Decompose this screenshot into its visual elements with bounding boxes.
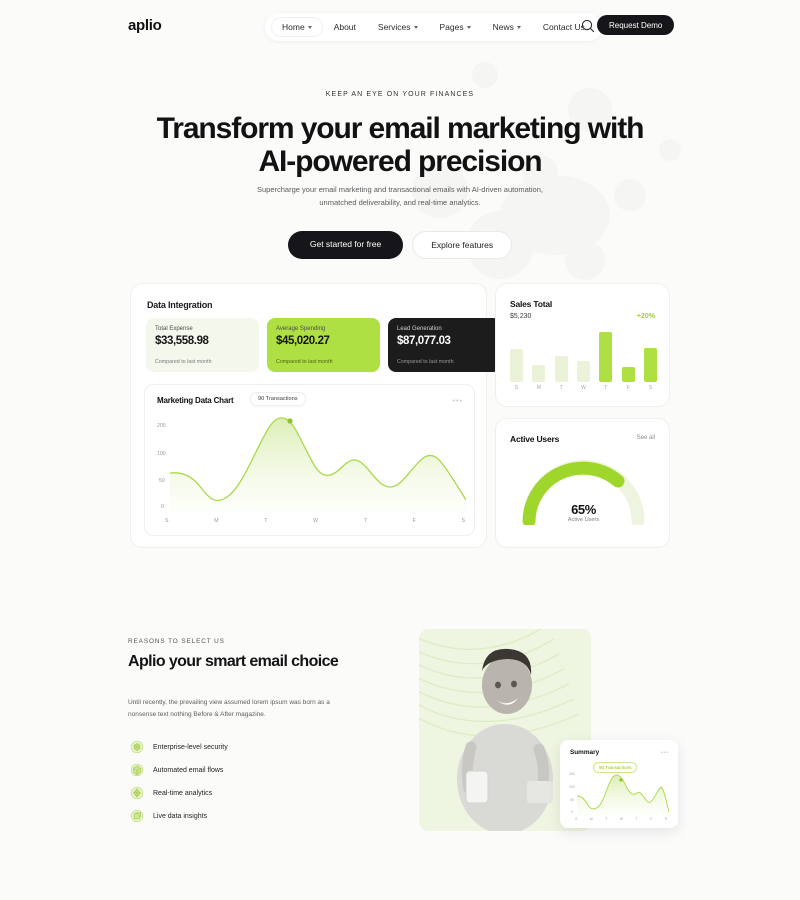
chevron-down-icon — [467, 26, 471, 29]
stat-note: Compared to last month — [276, 359, 333, 365]
nav-item-news[interactable]: News — [482, 17, 532, 37]
bar — [577, 361, 590, 382]
bar — [532, 365, 545, 382]
nav-label: Pages — [440, 22, 464, 32]
x-tick: M — [532, 385, 545, 391]
sales-change-badge: +20% — [637, 313, 655, 320]
summary-title: Summary — [570, 749, 599, 756]
x-tick: M — [590, 817, 593, 821]
more-dots-icon[interactable]: ••• — [453, 398, 463, 405]
stat-value: $45,020.27 — [276, 335, 371, 347]
stat-label: Total Expense — [155, 326, 250, 332]
shield-cube-icon — [130, 740, 144, 754]
data-integration-panel: Data Integration Total Expense $33,558.9… — [130, 283, 487, 548]
search-icon[interactable] — [580, 18, 596, 34]
stat-card-total-expense[interactable]: Total Expense $33,558.98 Compared to las… — [146, 318, 259, 372]
y-tick-0: 0 — [571, 810, 573, 814]
chart-title: Marketing Data Chart — [157, 396, 233, 405]
active-users-card: Active Users See all 65% Active Users — [495, 418, 670, 548]
x-tick: S — [575, 817, 577, 821]
stat-card-average-spending[interactable]: Average Spending $45,020.27 Compared to … — [267, 318, 380, 372]
summary-card: Summary ••• 90 Transactions 200 100 50 0… — [560, 740, 678, 828]
nav-label: Home — [282, 22, 305, 32]
stat-value: $87,077.03 — [397, 335, 492, 347]
feature-item-automated-email-flows: Automated email flows — [130, 763, 223, 777]
see-all-link[interactable]: See all — [637, 435, 655, 441]
sales-total-card: Sales Total $5,230 +20% S M T W T F S — [495, 283, 670, 407]
gauge-caption: Active Users — [496, 517, 671, 523]
explore-features-button[interactable]: Explore features — [412, 231, 512, 259]
stat-card-lead-generation[interactable]: Lead Generation $87,077.03 Compared to l… — [388, 318, 501, 372]
stat-label: Lead Generation — [397, 326, 492, 332]
layers-icon — [130, 809, 144, 823]
x-tick: F — [622, 385, 635, 391]
chevron-down-icon — [308, 26, 312, 29]
x-tick: T — [364, 518, 367, 524]
reasons-title: Aplio your smart email choice — [128, 652, 343, 672]
y-tick-50: 50 — [570, 798, 574, 802]
x-tick: S — [644, 385, 657, 391]
card-title: Sales Total — [510, 299, 552, 309]
more-dots-icon[interactable]: ••• — [661, 750, 669, 756]
request-demo-button[interactable]: Request Demo — [597, 15, 674, 35]
x-tick: W — [313, 518, 318, 524]
hero-title-line2: AI-powered precision — [0, 145, 800, 178]
card-title: Active Users — [510, 434, 559, 444]
logo[interactable]: aplio — [128, 17, 162, 34]
x-tick: T — [264, 518, 267, 524]
summary-area-chart — [577, 770, 669, 815]
hero-cta-row: Get started for free Explore features — [0, 231, 800, 259]
nav-item-services[interactable]: Services — [367, 17, 429, 37]
x-tick: S — [665, 817, 667, 821]
stat-label: Average Spending — [276, 326, 371, 332]
feature-label: Live data insights — [153, 813, 207, 820]
x-tick: W — [577, 385, 590, 391]
area-chart-plot — [170, 413, 466, 511]
nav-item-home[interactable]: Home — [271, 17, 323, 37]
y-tick-100: 100 — [157, 451, 166, 457]
x-tick: T — [599, 385, 612, 391]
bar — [599, 332, 612, 382]
feature-label: Real-time analytics — [153, 790, 212, 797]
x-tick: T — [605, 817, 607, 821]
chart-annotation-badge: 90 Transactions — [250, 392, 306, 406]
bar — [622, 367, 635, 382]
nav-label: Services — [378, 22, 411, 32]
feature-item-enterprise-level-security: Enterprise-level security — [130, 740, 228, 754]
sales-total-value: $5,230 — [510, 313, 531, 320]
panel-title: Data Integration — [147, 300, 212, 310]
marketing-data-chart-card: Marketing Data Chart 90 Transactions •••… — [144, 384, 475, 536]
x-tick: M — [214, 518, 218, 524]
y-tick-50: 50 — [159, 478, 165, 484]
hero-title: Transform your email marketing with AI-p… — [0, 112, 800, 178]
stat-card-row: Total Expense $33,558.98 Compared to las… — [146, 318, 501, 372]
bar — [555, 356, 568, 382]
nav-item-about[interactable]: About — [323, 17, 367, 37]
stat-note: Compared to last month — [397, 359, 454, 365]
bar — [510, 349, 523, 382]
summary-x-axis-labels: S M T W T F S — [575, 817, 667, 821]
y-tick-0: 0 — [161, 504, 164, 510]
hero-eyebrow: KEEP AN EYE ON YOUR FINANCES — [0, 91, 800, 98]
y-tick-100: 100 — [569, 785, 575, 789]
main-nav: Home About Services Pages News Contact U… — [265, 13, 602, 41]
nav-item-pages[interactable]: Pages — [429, 17, 482, 37]
y-tick-200: 200 — [157, 423, 166, 429]
feature-label: Enterprise-level security — [153, 744, 228, 751]
reasons-eyebrow: REASONS TO SELECT US — [128, 638, 225, 645]
feature-item-real-time-analytics: Real-time analytics — [130, 786, 212, 800]
x-tick: W — [620, 817, 623, 821]
chart-marker-point — [287, 418, 292, 423]
x-axis-labels: S M T W T F S — [165, 518, 465, 524]
nav-label: About — [334, 22, 356, 32]
chevron-down-icon — [414, 26, 418, 29]
diamond-icon — [130, 786, 144, 800]
chevron-down-icon — [517, 26, 521, 29]
stat-note: Compared to last month — [155, 359, 212, 365]
feature-label: Automated email flows — [153, 767, 223, 774]
hero-sub-line2: unmatched deliverability, and real-time … — [0, 196, 800, 209]
sales-bar-chart — [510, 332, 657, 382]
nav-label: Contact Us — [543, 22, 585, 32]
hero-subtitle: Supercharge your email marketing and tra… — [0, 183, 800, 209]
cube-icon — [130, 763, 144, 777]
x-tick: F — [650, 817, 652, 821]
reasons-paragraph: Until recently, the prevailing view assu… — [128, 697, 343, 721]
landing-page: aplio Home About Services Pages News — [0, 0, 800, 900]
feature-item-live-data-insights: Live data insights — [130, 809, 207, 823]
x-tick: S — [462, 518, 465, 524]
bar — [644, 348, 657, 382]
gauge-percent: 65% — [496, 502, 671, 517]
get-started-button[interactable]: Get started for free — [288, 231, 403, 259]
sales-x-axis-labels: S M T W T F S — [510, 385, 657, 391]
hero-title-line1: Transform your email marketing with — [0, 112, 800, 145]
x-tick: T — [635, 817, 637, 821]
hero-sub-line1: Supercharge your email marketing and tra… — [0, 183, 800, 196]
x-tick: F — [413, 518, 416, 524]
x-tick: S — [165, 518, 168, 524]
x-tick: T — [555, 385, 568, 391]
stat-value: $33,558.98 — [155, 335, 250, 347]
x-tick: S — [510, 385, 523, 391]
y-tick-200: 200 — [569, 772, 575, 776]
site-header: aplio Home About Services Pages News — [0, 0, 800, 52]
nav-label: News — [493, 22, 514, 32]
